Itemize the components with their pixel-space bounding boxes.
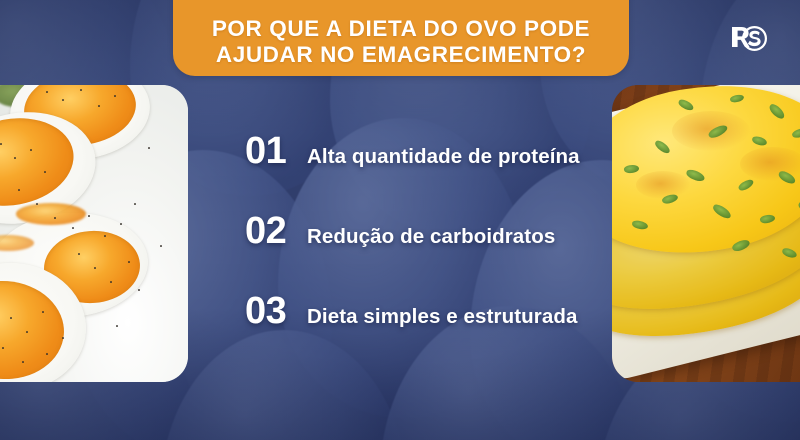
list-item-number: 01	[245, 132, 307, 170]
list-item-number: 02	[245, 212, 307, 250]
boiled-eggs-photo	[0, 85, 188, 382]
omelette-photo	[612, 85, 800, 382]
page-title: POR QUE A DIETA DO OVO PODE AJUDAR NO EM…	[212, 16, 590, 69]
infographic-canvas: POR QUE A DIETA DO OVO PODE AJUDAR NO EM…	[0, 0, 800, 440]
list-item-label: Redução de carboidratos	[307, 227, 555, 248]
list-item-number: 03	[245, 292, 307, 330]
benefits-list: 01 Alta quantidade de proteína 02 Reduçã…	[245, 132, 605, 344]
list-item-label: Alta quantidade de proteína	[307, 147, 580, 168]
title-banner: POR QUE A DIETA DO OVO PODE AJUDAR NO EM…	[173, 0, 629, 76]
list-item: 01 Alta quantidade de proteína	[245, 132, 605, 184]
rs-monogram-logo[interactable]	[728, 18, 772, 60]
list-item: 02 Redução de carboidratos	[245, 212, 605, 264]
list-item-label: Dieta simples e estruturada	[307, 307, 577, 328]
list-item: 03 Dieta simples e estruturada	[245, 292, 605, 344]
